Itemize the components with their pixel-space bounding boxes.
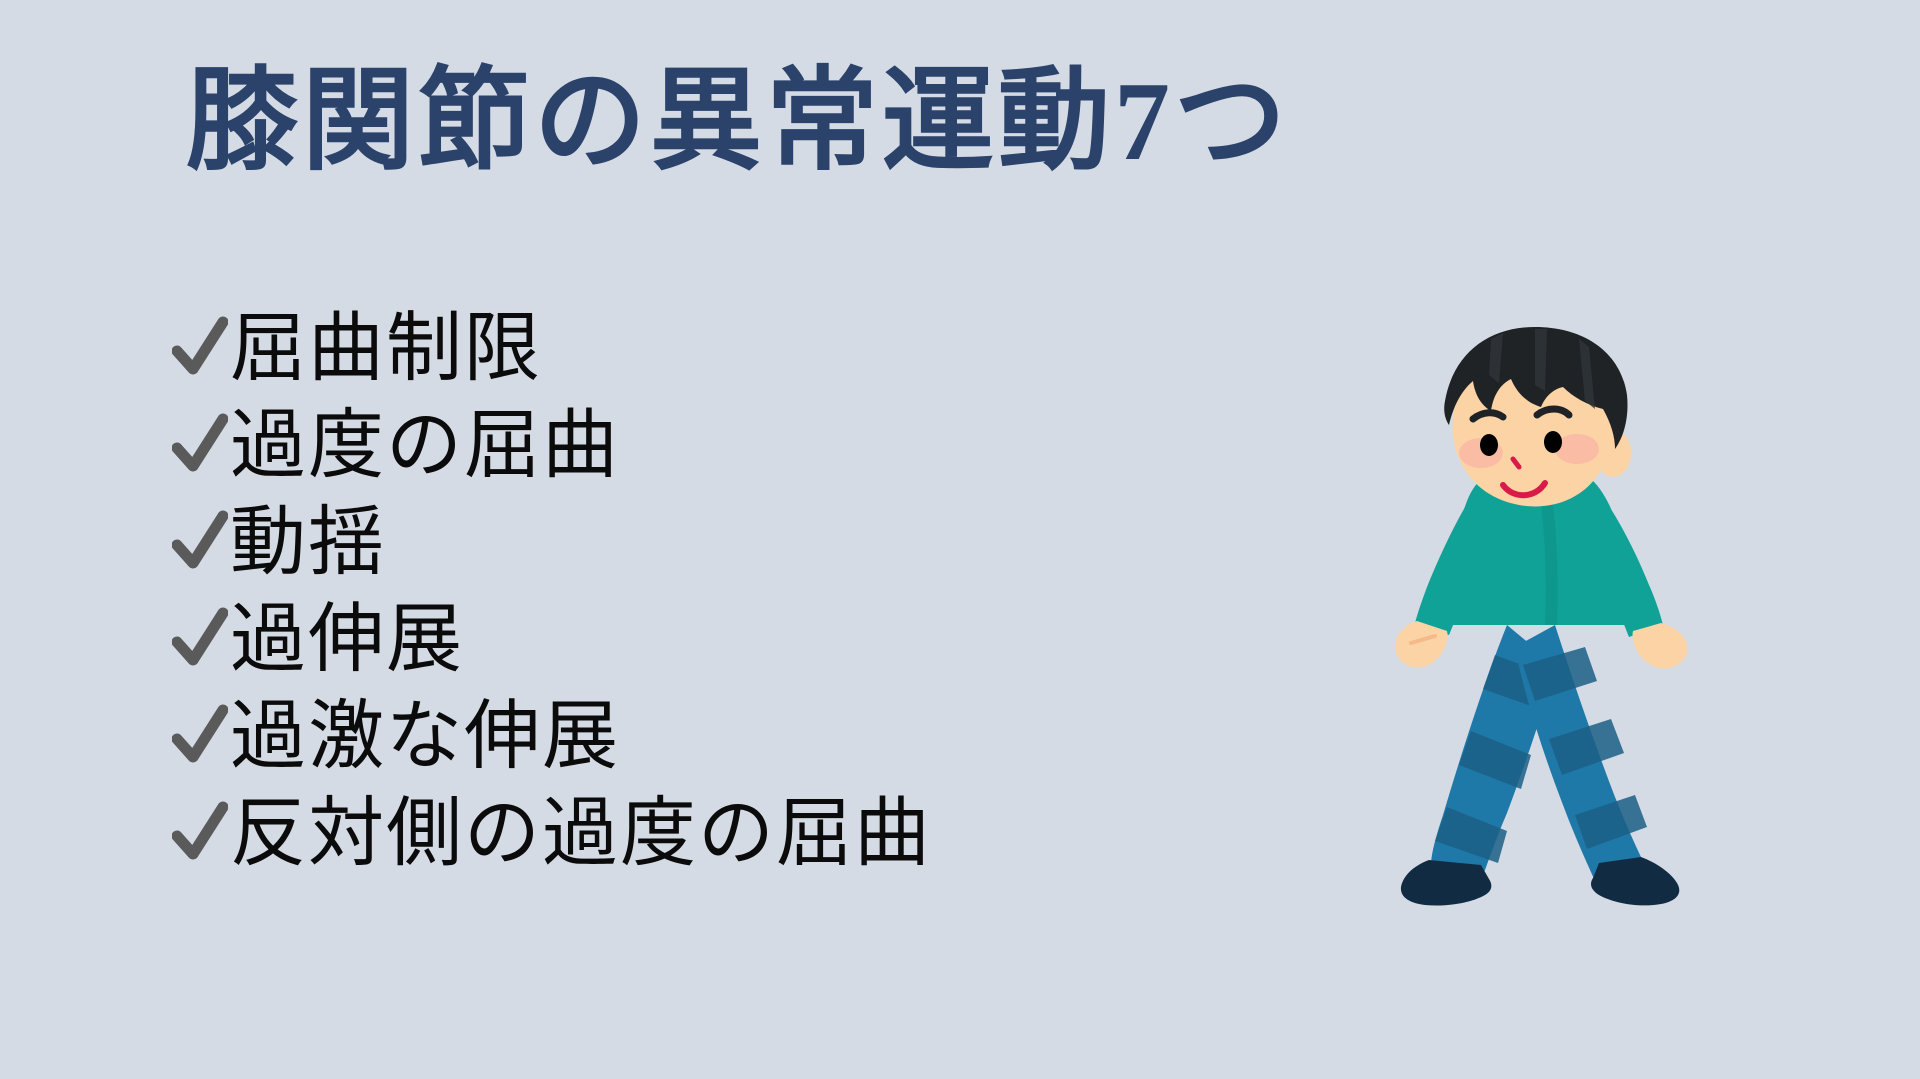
check-icon xyxy=(172,314,228,384)
page-title: 膝関節の異常運動7つ xyxy=(186,58,1290,187)
list-item-label: 過激な伸展 xyxy=(230,699,620,775)
hand-front xyxy=(1632,623,1687,669)
list-item: 過伸展 xyxy=(172,591,1352,688)
eye-right xyxy=(1544,431,1562,453)
list-item-label: 屈曲制限 xyxy=(230,311,542,387)
cheek-right xyxy=(1555,434,1599,464)
checklist: 屈曲制限 過度の屈曲 動揺 過伸展 xyxy=(172,300,1352,882)
shoe-front xyxy=(1591,857,1679,905)
list-item-label: 動揺 xyxy=(230,505,386,581)
eye-left xyxy=(1480,434,1498,456)
list-item-label: 過伸展 xyxy=(230,602,464,678)
list-item-label: 反対側の過度の屈曲 xyxy=(230,796,932,872)
check-icon xyxy=(172,702,228,772)
check-icon xyxy=(172,411,228,481)
check-icon xyxy=(172,605,228,675)
list-item: 過度の屈曲 xyxy=(172,397,1352,494)
list-item-label: 過度の屈曲 xyxy=(230,408,620,484)
walking-man-illustration xyxy=(1395,325,1715,960)
leg-front xyxy=(1515,625,1647,881)
list-item: 動揺 xyxy=(172,494,1352,591)
head xyxy=(1444,327,1631,506)
list-item: 過激な伸展 xyxy=(172,688,1352,785)
shoe-back xyxy=(1401,860,1491,906)
check-icon xyxy=(172,508,228,578)
slide-canvas: 膝関節の異常運動7つ 屈曲制限 過度の屈曲 xyxy=(0,0,1920,1079)
list-item: 反対側の過度の屈曲 xyxy=(172,785,1352,882)
list-item: 屈曲制限 xyxy=(172,300,1352,397)
check-icon xyxy=(172,799,228,869)
